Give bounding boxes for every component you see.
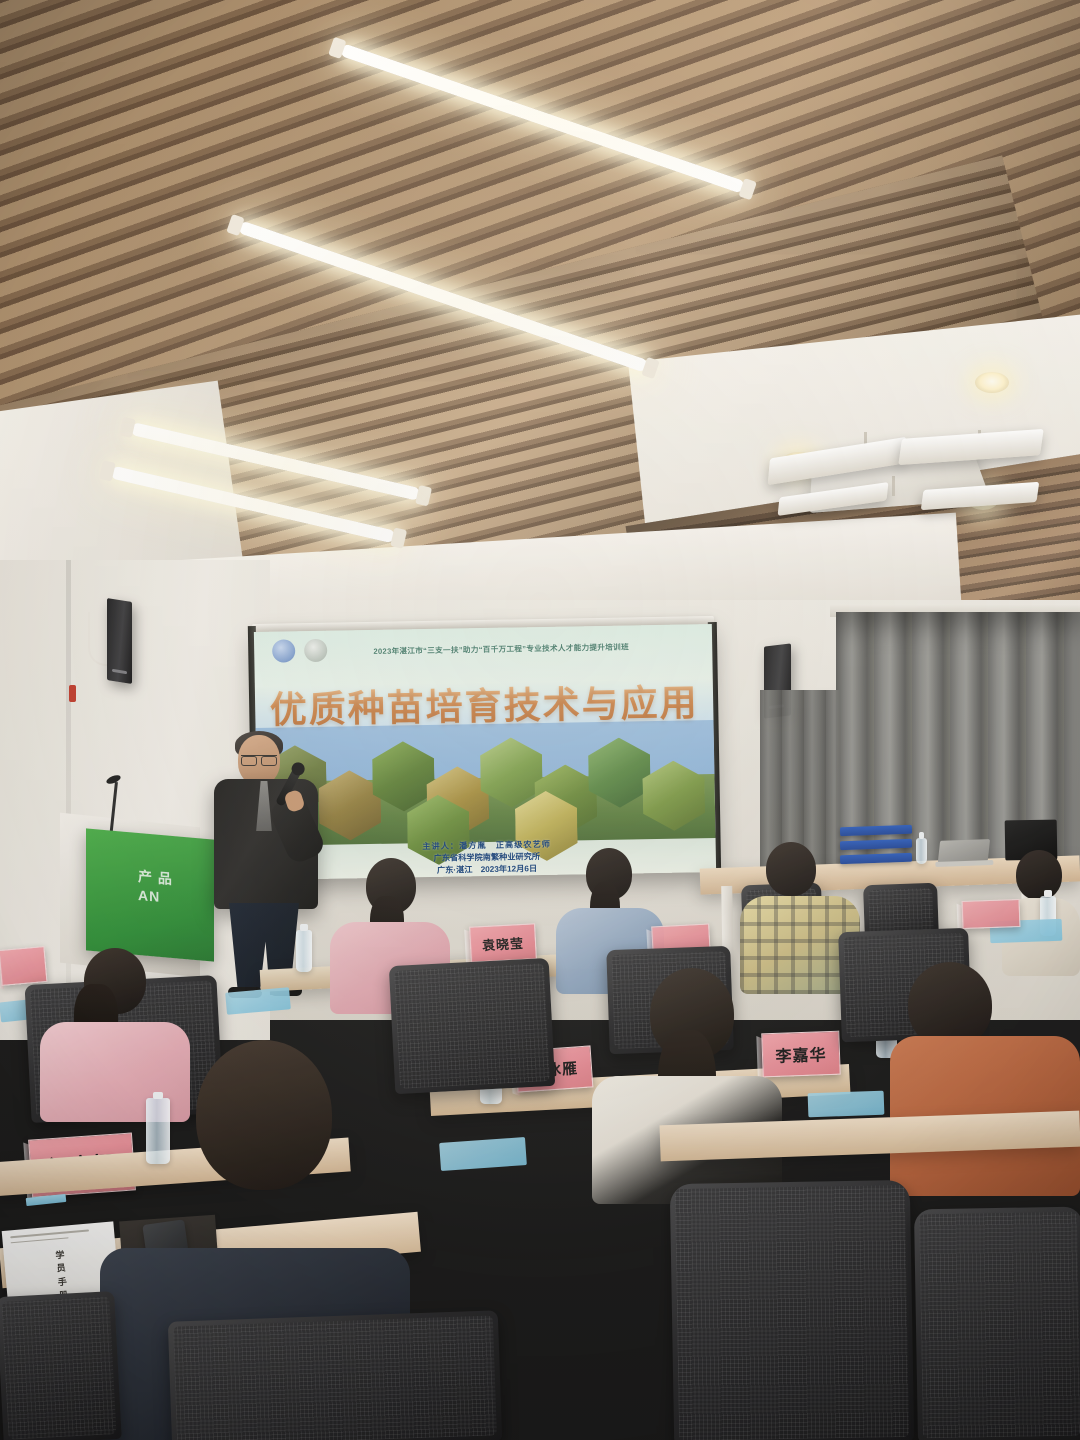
green-sign-text: 产 品 AN [138, 867, 173, 908]
water-bottle-icon [296, 930, 312, 972]
blue-cloth [808, 1091, 885, 1118]
office-chair [389, 958, 555, 1094]
fire-alarm-icon [69, 685, 76, 702]
slide-header-text: 2023年湛江市“三支一扶”助力“百千万工程”专业技术人才能力提升培训班 [306, 641, 696, 657]
attendee-head [1016, 850, 1062, 900]
name-placard-label: 李嘉华 [775, 1041, 827, 1067]
attendee-head [766, 842, 816, 896]
attendee-head [196, 1040, 332, 1190]
wall-speaker-icon [107, 598, 132, 684]
office-chair [0, 1291, 122, 1440]
recessed-downlight-icon [975, 372, 1009, 393]
name-placard: 袁晓莹 [469, 923, 537, 962]
training-room-photo: 2023年湛江市“三支一扶”助力“百千万工程”专业技术人才能力提升培训班 优质种… [0, 0, 1080, 1440]
green-sign-line2: AN [138, 886, 173, 908]
ceiling-cassette-ac-icon [772, 430, 1040, 542]
speaker-cable [88, 612, 108, 666]
water-bottle-icon [916, 838, 927, 864]
slide-hexagon-photo-band [256, 732, 716, 844]
laptop-icon [935, 839, 994, 867]
projection-screen-icon: 2023年湛江市“三支一扶”助力“百千万工程”专业技术人才能力提升培训班 优质种… [254, 624, 716, 880]
name-placard [962, 899, 1021, 929]
attendee [890, 962, 1080, 1192]
blue-cloth [439, 1137, 527, 1171]
office-chair [670, 1180, 915, 1440]
office-chair [168, 1310, 502, 1440]
glasses-icon [241, 755, 277, 764]
slide-title-text: 优质种苗培育技术与应用 [255, 672, 714, 734]
blue-circle-logo-icon [272, 639, 295, 662]
green-signboard: 产 品 AN [86, 828, 214, 961]
name-placard-label: 袁晓莹 [482, 932, 525, 953]
attendee [592, 968, 782, 1198]
office-chair [914, 1207, 1080, 1440]
